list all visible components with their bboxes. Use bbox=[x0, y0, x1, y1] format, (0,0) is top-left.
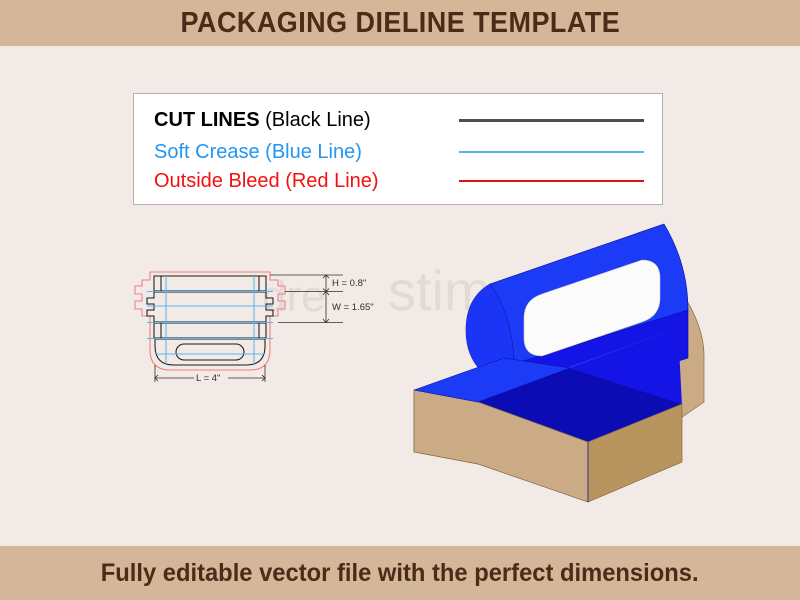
dim-label-width: W = 1.65" bbox=[332, 302, 374, 313]
legend-box: CUT LINES (Black Line) Soft Crease (Blue… bbox=[133, 93, 663, 205]
page-root: PACKAGING DIELINE TEMPLATE CUT LINES (Bl… bbox=[0, 0, 800, 600]
page-title: PACKAGING DIELINE TEMPLATE bbox=[180, 7, 620, 40]
dim-label-length: L = 4" bbox=[196, 373, 220, 384]
legend-row-soft-crease: Soft Crease (Blue Line) bbox=[134, 137, 662, 167]
legend-label-outside-bleed-rest: (Red Line) bbox=[280, 170, 379, 192]
footer-caption: Fully editable vector file with the perf… bbox=[101, 559, 699, 588]
dieline-diagram: H = 0.8" W = 1.65" L = 4" bbox=[128, 258, 388, 458]
box-mockup-svg bbox=[392, 206, 732, 506]
box-mockup bbox=[392, 206, 732, 506]
footer-band: Fully editable vector file with the perf… bbox=[0, 546, 800, 600]
bleed-outline bbox=[135, 272, 285, 370]
cut-window-rounded-rect bbox=[176, 344, 244, 360]
dim-label-height: H = 0.8" bbox=[332, 278, 366, 289]
legend-sample-outside-bleed bbox=[459, 180, 644, 182]
legend-label-outside-bleed-strong: Outside Bleed bbox=[154, 170, 280, 192]
legend-sample-soft-crease bbox=[459, 151, 644, 153]
bleed-outline-group bbox=[135, 272, 285, 370]
dieline-svg: H = 0.8" W = 1.65" L = 4" bbox=[128, 258, 388, 458]
legend-label-cut-lines: CUT LINES (Black Line) bbox=[154, 109, 371, 132]
legend-label-cut-lines-strong: CUT LINES bbox=[154, 109, 260, 131]
legend-label-soft-crease-strong: Soft Crease bbox=[154, 141, 260, 163]
legend-label-soft-crease-rest: (Blue Line) bbox=[260, 141, 362, 163]
cut-lower-flap bbox=[154, 323, 266, 338]
cut-top-flap bbox=[154, 276, 266, 291]
header-band: PACKAGING DIELINE TEMPLATE bbox=[0, 0, 800, 46]
cut-bottom-panel bbox=[155, 339, 265, 365]
dimension-labels-group: H = 0.8" W = 1.65" L = 4" bbox=[194, 277, 382, 384]
legend-label-soft-crease: Soft Crease (Blue Line) bbox=[154, 141, 362, 164]
crease-lines-group bbox=[147, 276, 273, 364]
legend-label-cut-lines-rest: (Black Line) bbox=[260, 109, 371, 131]
legend-row-cut-lines: CUT LINES (Black Line) bbox=[134, 105, 662, 135]
legend-label-outside-bleed: Outside Bleed (Red Line) bbox=[154, 170, 379, 193]
legend-sample-cut-lines bbox=[459, 119, 644, 122]
legend-row-outside-bleed: Outside Bleed (Red Line) bbox=[134, 166, 662, 196]
